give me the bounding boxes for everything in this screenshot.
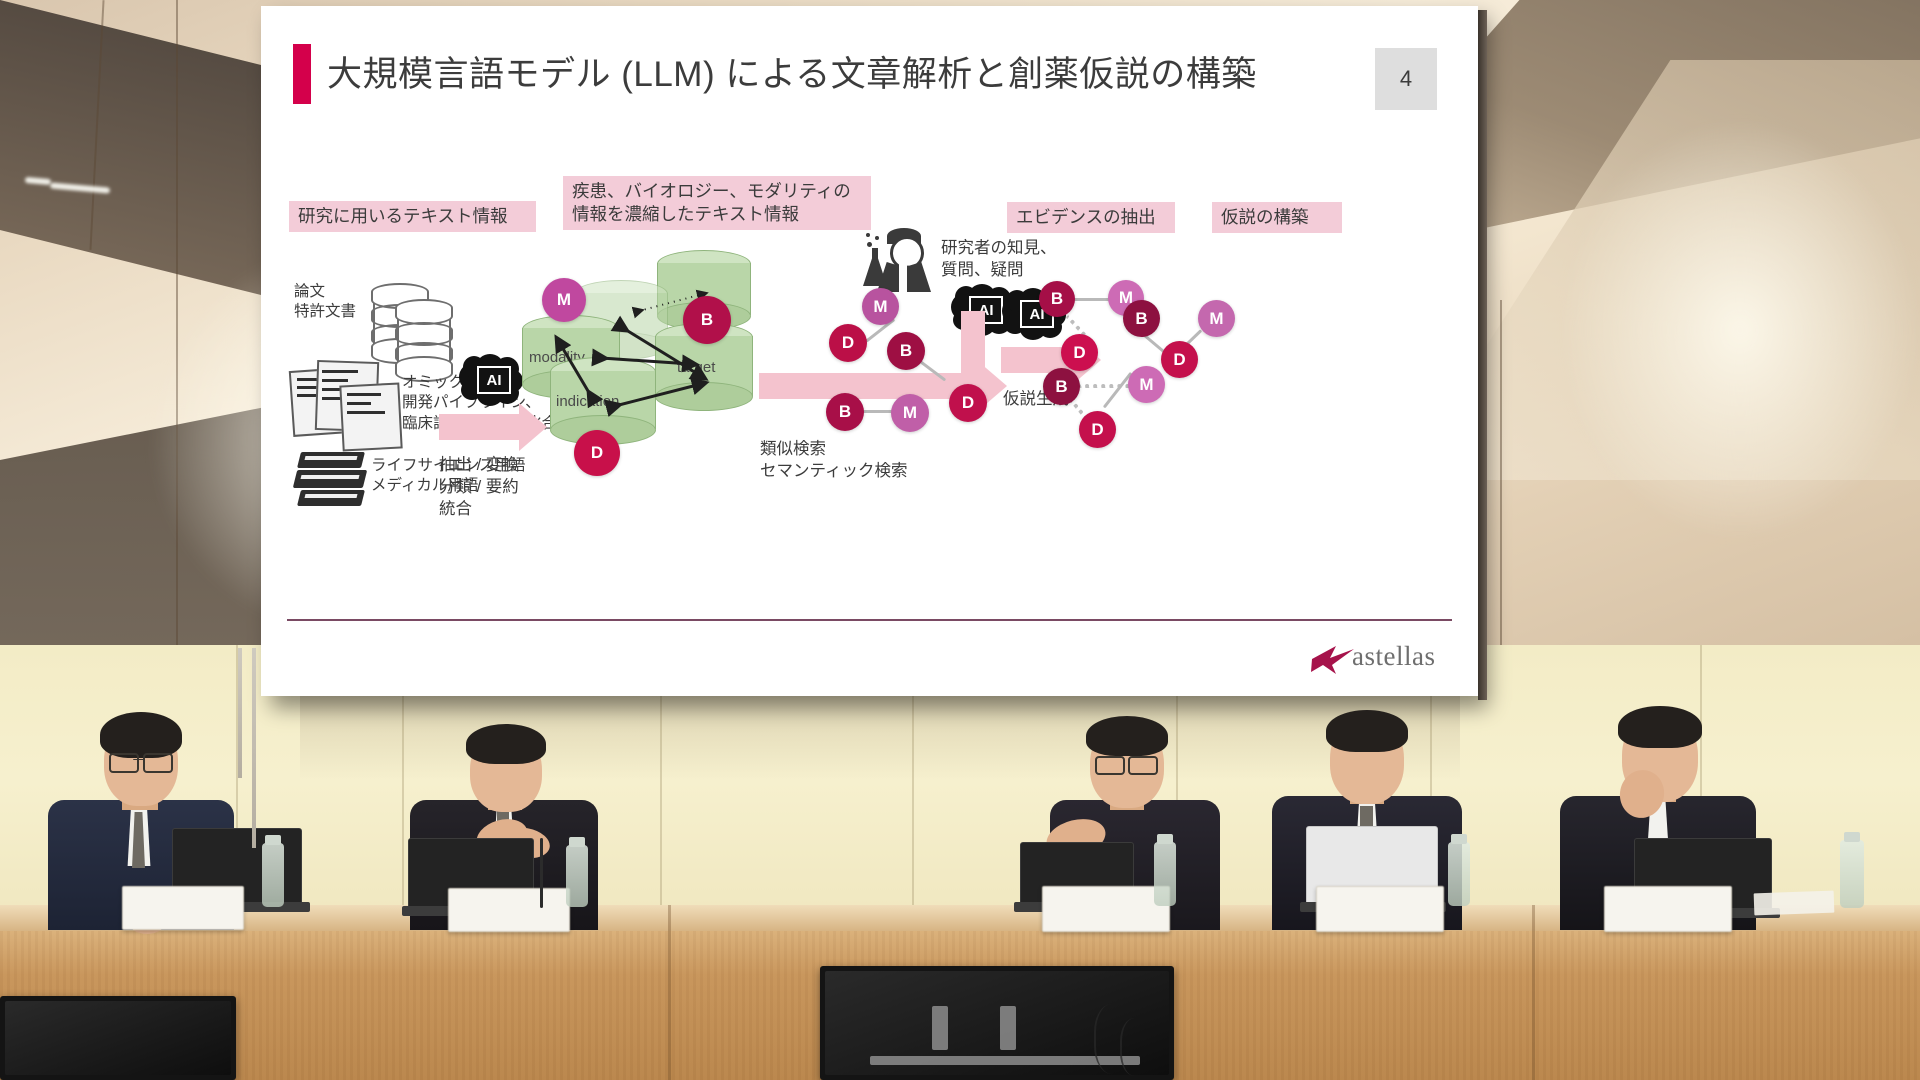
- nameplate-2: [448, 888, 570, 932]
- bottle-cap: [1844, 832, 1860, 842]
- wall-glare: [1560, 120, 1920, 540]
- cable: [1120, 1018, 1156, 1076]
- researcher-input-label: 研究者の知見、 質問、疑問: [941, 238, 1057, 282]
- slide-frame-edge: [1478, 10, 1487, 700]
- ai-brain-icon: AI: [457, 354, 525, 408]
- section-label-hypothesis-construction: 仮説の構築: [1212, 202, 1342, 233]
- kb-node-modality: M: [542, 278, 586, 322]
- hypothesis-node: D: [1161, 341, 1198, 378]
- papers-on-desk: [1754, 891, 1835, 916]
- water-bottle: [262, 843, 284, 907]
- nameplate-4: [1316, 886, 1444, 932]
- hypothesis-node: M: [1198, 300, 1235, 337]
- astellas-logo: astellas: [1310, 643, 1450, 677]
- section-label-text-sources: 研究に用いるテキスト情報: [289, 201, 536, 232]
- presentation-slide: 大規模言語モデル (LLM) による文章解析と創薬仮説の構築 4 研究に用いるテ…: [261, 6, 1478, 696]
- monitor-mount-bracket: [1000, 1006, 1016, 1050]
- water-bottle: [1448, 842, 1470, 906]
- nameplate-1: [122, 886, 244, 930]
- source-label-papers: 論文 特許文書: [294, 282, 356, 323]
- cylinder-label-target: target: [677, 359, 715, 376]
- water-bottle: [1840, 840, 1864, 908]
- water-bottle: [1154, 842, 1176, 906]
- evidence-node: B: [887, 332, 925, 370]
- desk-front-right: [1536, 931, 1920, 1080]
- page-number-badge: 4: [1375, 48, 1437, 110]
- process-arrow-1: [439, 403, 549, 451]
- monitor-mount-bracket: [932, 1006, 948, 1050]
- hypothesis-node: B: [1043, 368, 1080, 405]
- bottle-cap: [1451, 834, 1467, 844]
- slide-title: 大規模言語モデル (LLM) による文章解析と創薬仮説の構築: [327, 46, 1257, 97]
- bottle-cap: [265, 835, 281, 845]
- hypothesis-node: D: [1061, 334, 1098, 371]
- evidence-node: M: [891, 394, 929, 432]
- footer-divider: [287, 619, 1452, 621]
- section-label-evidence-extraction: エビデンスの抽出: [1007, 202, 1175, 233]
- astellas-star-icon: [1310, 643, 1356, 677]
- kb-node-biology: B: [683, 296, 731, 344]
- hypothesis-node: B: [1039, 281, 1075, 317]
- evidence-node: B: [826, 393, 864, 431]
- wall-seam: [1500, 300, 1502, 660]
- cylinder-label-indication: indication: [556, 393, 619, 410]
- microphone: [540, 838, 543, 908]
- hypothesis-node: D: [1079, 411, 1116, 448]
- hypothesis-node: B: [1123, 300, 1160, 337]
- bottle-cap: [1157, 834, 1173, 844]
- water-bottle: [566, 845, 588, 907]
- evidence-node: D: [949, 384, 987, 422]
- section-label-condensed-text: 疾患、バイオロジー、モダリティの 情報を濃縮したテキスト情報: [563, 176, 871, 230]
- evidence-node: M: [862, 288, 899, 325]
- nameplate-3: [1042, 886, 1170, 932]
- hypothesis-node: M: [1128, 366, 1165, 403]
- nameplate-5: [1604, 886, 1732, 932]
- desk-seam: [668, 905, 671, 1080]
- bottle-cap: [569, 837, 585, 847]
- conference-room-scene: 大規模言語モデル (LLM) による文章解析と創薬仮説の構築 4 研究に用いるテ…: [0, 0, 1920, 1080]
- evidence-node: D: [829, 324, 867, 362]
- desk-seam: [1532, 905, 1535, 1080]
- foreground-monitor-left: [0, 996, 236, 1080]
- room-stand: [252, 648, 256, 848]
- process-caption-search: 類似検索 セマンティック検索: [760, 438, 908, 482]
- title-accent-bar: [293, 44, 311, 104]
- kb-node-disease: D: [574, 430, 620, 476]
- projector-screen-stand: [238, 648, 242, 778]
- process-caption-extract: 抽出 / 変換 分類 / 要約 統合: [439, 454, 519, 520]
- scientist-icon: [863, 228, 935, 294]
